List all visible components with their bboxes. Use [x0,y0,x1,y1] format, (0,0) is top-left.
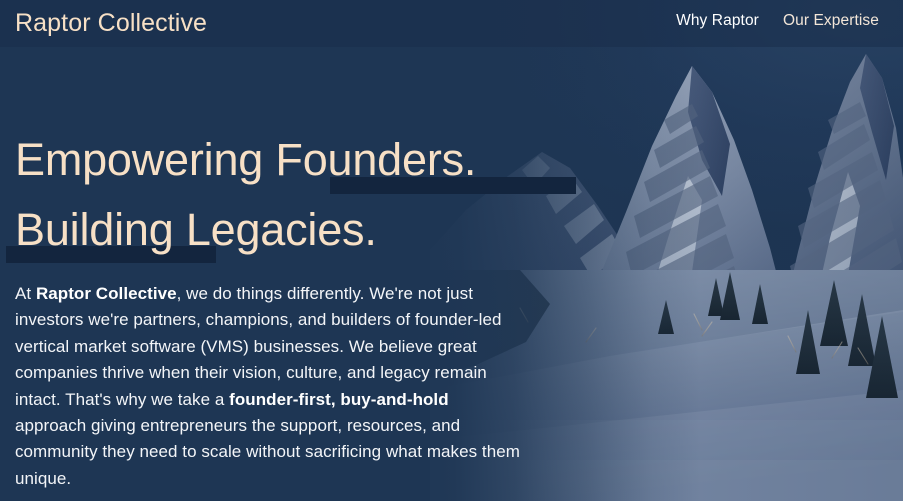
headline-line-2: Building Legacies. [15,204,377,255]
hero-section: Empowering Founders. Building Legacies. … [0,47,903,501]
hero-paragraph: At Raptor Collective, we do things diffe… [15,281,520,492]
hero-headline: Empowering Founders. Building Legacies. [15,125,635,265]
header-inner: Raptor Collective Why Raptor Our Experti… [0,0,903,47]
paragraph-bold-approach: founder-first, buy-and-hold [229,390,449,409]
site-header: Raptor Collective Why Raptor Our Experti… [0,0,903,47]
page-root: Raptor Collective Why Raptor Our Experti… [0,0,903,501]
nav-item-why-raptor[interactable]: Why Raptor [676,11,759,31]
primary-navigation: Why Raptor Our Expertise [676,11,903,31]
headline-line-2-wrapper: Building Legacies. [15,195,635,265]
brand-logo-text[interactable]: Raptor Collective [15,9,207,37]
paragraph-part-1: At [15,284,36,303]
nav-item-our-expertise[interactable]: Our Expertise [783,11,879,31]
headline-line-1-wrapper: Empowering Founders. [15,125,635,195]
paragraph-part-3: approach giving entrepreneurs the suppor… [15,416,520,488]
paragraph-bold-brand: Raptor Collective [36,284,177,303]
headline-line-1: Empowering Founders. [15,134,476,185]
